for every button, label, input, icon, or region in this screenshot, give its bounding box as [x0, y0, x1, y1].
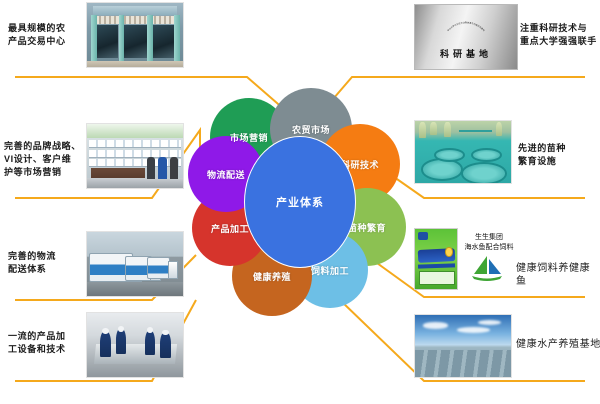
left-item-3-caption: 完善的物流 配送体系 — [8, 250, 78, 276]
right-item-1-caption: 注重科研技术与 重点大学强强联手 — [520, 22, 600, 48]
petal-farm-market-label: 农贸市场 — [292, 123, 330, 136]
diagram-center-node[interactable]: 产业体系 — [244, 136, 356, 268]
processing-plant-photo — [86, 312, 184, 378]
delivery-trucks-photo — [86, 231, 184, 297]
diagram-center-label: 产业体系 — [276, 194, 324, 210]
brand-name-label: 生生集团 海水鱼配合饲料 — [458, 232, 520, 252]
shop-interior-photo — [86, 123, 184, 189]
aquaculture-base-photo — [414, 314, 512, 378]
petal-logistics-label: 物流配送 — [207, 168, 245, 181]
industry-system-diagram: 市场营销 农贸市场 科研技术 苗种繁育 饲料加工 健康养殖 产品加工 物流配送 … — [188, 88, 412, 316]
petal-processing-label: 产品加工 — [211, 222, 249, 235]
petal-marketing-label: 市场营销 — [230, 131, 268, 144]
hatchery-ponds-photo — [414, 120, 512, 184]
plaque-arc-label: 中山大学水生经济动物资源与利用研究基地 — [446, 21, 486, 33]
petal-aquaculture-label: 健康养殖 — [253, 270, 291, 283]
left-item-2-caption: 完善的品牌战略、 VI设计、客户维 护等市场营销 — [4, 140, 82, 179]
svg-text:中山大学水生经济动物资源与利用研究基地: 中山大学水生经济动物资源与利用研究基地 — [446, 21, 486, 33]
left-item-4-caption: 一流的产品加 工设备和技术 — [8, 330, 80, 356]
feed-bag-photo — [414, 228, 458, 290]
petal-breeding-label: 苗种繁育 — [348, 221, 386, 234]
sailboat-logo — [470, 254, 504, 282]
research-base-plaque: 中山大学水生经济动物资源与利用研究基地 科研基地 — [414, 4, 518, 70]
infographic-canvas: 最具规模的农 产品交易中心 完善的品牌战略、 VI设计、客户维 护等市场营销 — [0, 0, 600, 404]
plaque-main-label: 科研基地 — [415, 47, 517, 60]
right-item-3-caption: 健康饲料养健康鱼 — [516, 262, 600, 288]
petal-feed-label: 饲料加工 — [311, 264, 349, 277]
right-item-4-caption: 健康水产养殖基地 — [516, 338, 600, 351]
left-item-1-caption: 最具规模的农 产品交易中心 — [8, 22, 80, 48]
right-item-2-caption: 先进的苗种 繁育设施 — [518, 142, 596, 168]
market-building-photo — [86, 2, 184, 68]
